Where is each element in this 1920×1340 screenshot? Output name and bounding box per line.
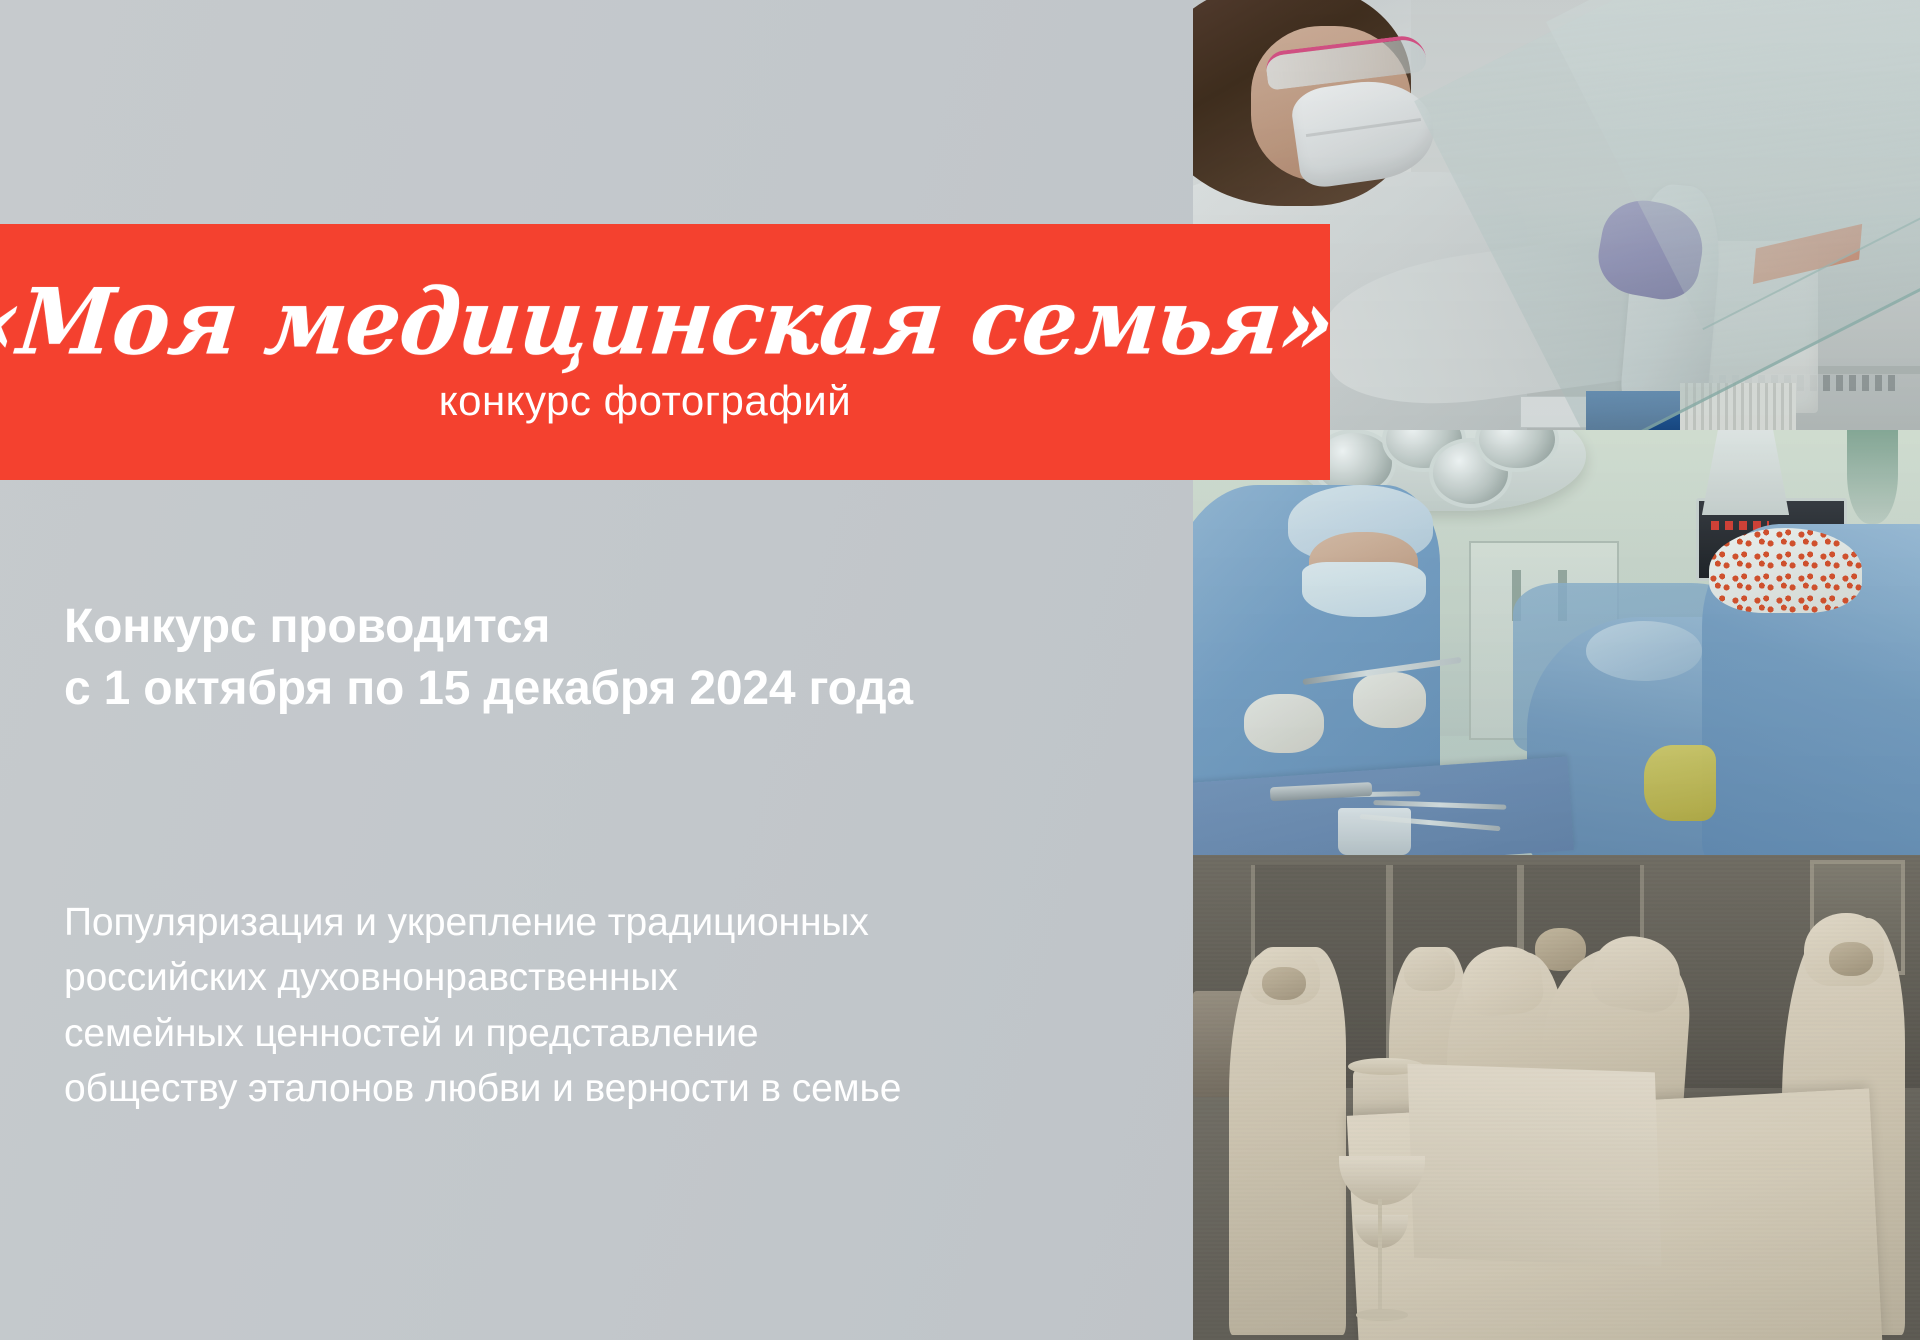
contest-goal-line-1: Популяризация и укрепление традиционных (64, 895, 1154, 950)
poster-root: «Моя медицинская семья» конкурс фотограф… (0, 0, 1920, 1340)
contest-period-line-2: с 1 октября по 15 декабря 2024 года (64, 658, 1114, 720)
contest-goal-line-4: обществу эталонов любви и верности в сем… (64, 1061, 1154, 1116)
historic-operating-theatre-photo (1193, 855, 1920, 1340)
contest-goal-line-3: семейных ценностей и представление (64, 1006, 1154, 1061)
historic-fade-overlay (1193, 855, 1920, 1340)
contest-period-line-1: Конкурс проводится (64, 600, 550, 653)
contest-goal-line-2: российских духовнонравственных (64, 950, 1154, 1005)
page-subtitle: конкурс фотографий (439, 378, 851, 424)
contest-goal-paragraph: Популяризация и укрепление традиционных … (64, 895, 1154, 1117)
contest-period-heading: Конкурс проводится с 1 октября по 15 дек… (64, 596, 1114, 721)
surgery-team-photo (1193, 430, 1920, 855)
surgery-color-tint (1193, 430, 1920, 855)
title-banner-content: «Моя медицинская семья» конкурс фотограф… (0, 224, 1290, 480)
title-banner: «Моя медицинская семья» конкурс фотограф… (0, 224, 1330, 480)
page-title: «Моя медицинская семья» (0, 277, 1338, 368)
photo-column (1193, 0, 1920, 1340)
